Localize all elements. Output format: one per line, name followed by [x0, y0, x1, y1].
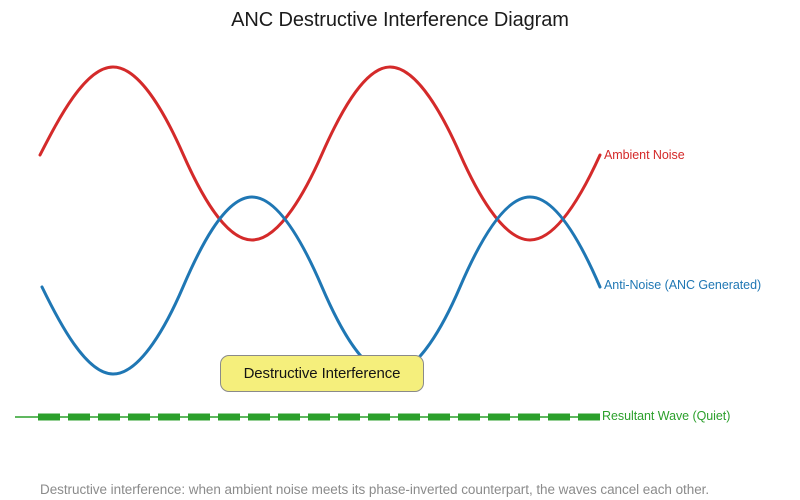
series-label-resultant-wave: Resultant Wave (Quiet) — [602, 409, 730, 423]
waveform-plot-area — [0, 0, 800, 500]
anc-interference-figure: ANC Destructive Interference Diagram Amb… — [0, 0, 800, 500]
series-label-anti-noise: Anti-Noise (ANC Generated) — [604, 278, 761, 292]
series-label-ambient-noise: Ambient Noise — [604, 148, 685, 162]
annotation-destructive-interference: Destructive Interference — [220, 355, 424, 392]
anti-noise-curve — [42, 197, 600, 374]
ambient-noise-curve — [40, 67, 600, 240]
figure-caption: Destructive interference: when ambient n… — [40, 482, 780, 497]
